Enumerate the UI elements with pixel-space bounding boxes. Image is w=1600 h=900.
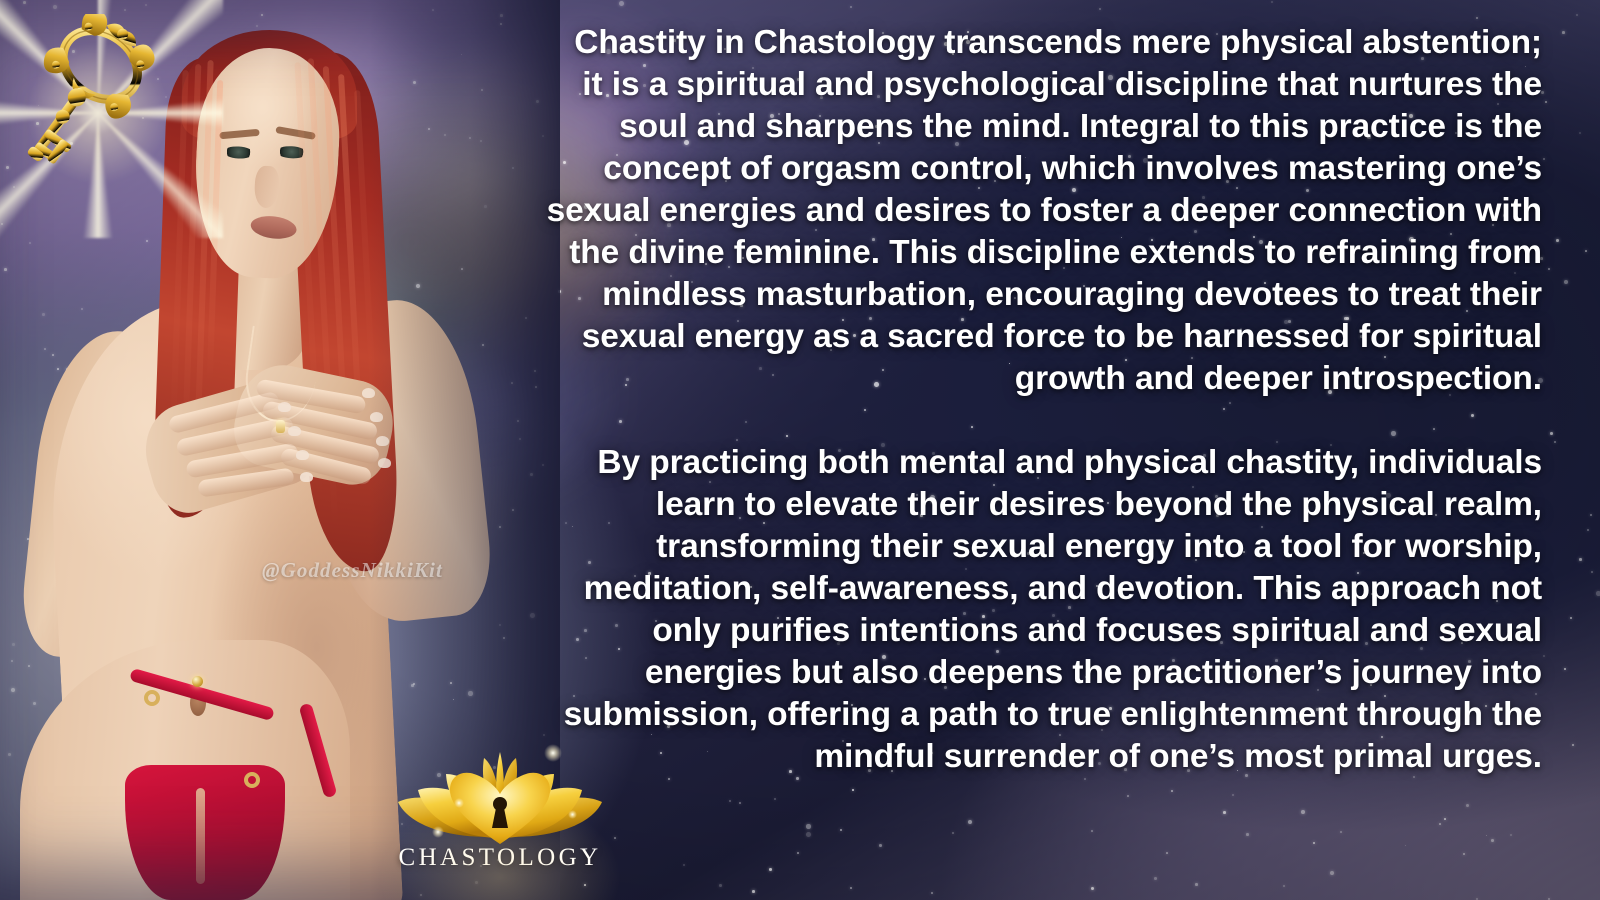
red-thong [125,765,285,900]
navel-piercing-icon [192,676,203,687]
thong-ring-right [244,772,260,788]
thong-center-panel [196,788,205,884]
lotus-logo-wrap [392,740,608,848]
body-paragraph-1: Chastity in Chastology transcends mere p… [546,22,1542,400]
body-copy: Chastity in Chastology transcends mere p… [546,22,1542,778]
model-eyebrow-left [219,129,259,139]
golden-lotus-heart-keyhole-icon [392,740,608,852]
golden-key-decoration [8,14,188,204]
model-fingernail [288,426,301,436]
model-fingernail [296,450,309,460]
model-lips [249,214,297,241]
model-nose [254,165,280,208]
ornate-golden-key-icon [8,14,188,204]
model-fingernail [300,472,313,482]
watermark-handle: @GoddessNikkiKit [262,558,443,583]
model-fingernail [376,436,389,446]
model-fingernail [278,402,291,412]
model-fingernail [370,412,383,422]
model-eye-left [223,146,254,160]
model-pendant [276,420,285,433]
chastology-poster: @GoddessNikkiKit [0,0,1600,900]
model-fingernail [378,458,391,468]
model-eyebrow-right [275,126,316,140]
model-fingernail [362,388,375,398]
brand-lockup: CHASTOLOGY [392,740,608,872]
body-paragraph-2: By practicing both mental and physical c… [546,442,1542,778]
thong-ring-left [144,690,160,706]
